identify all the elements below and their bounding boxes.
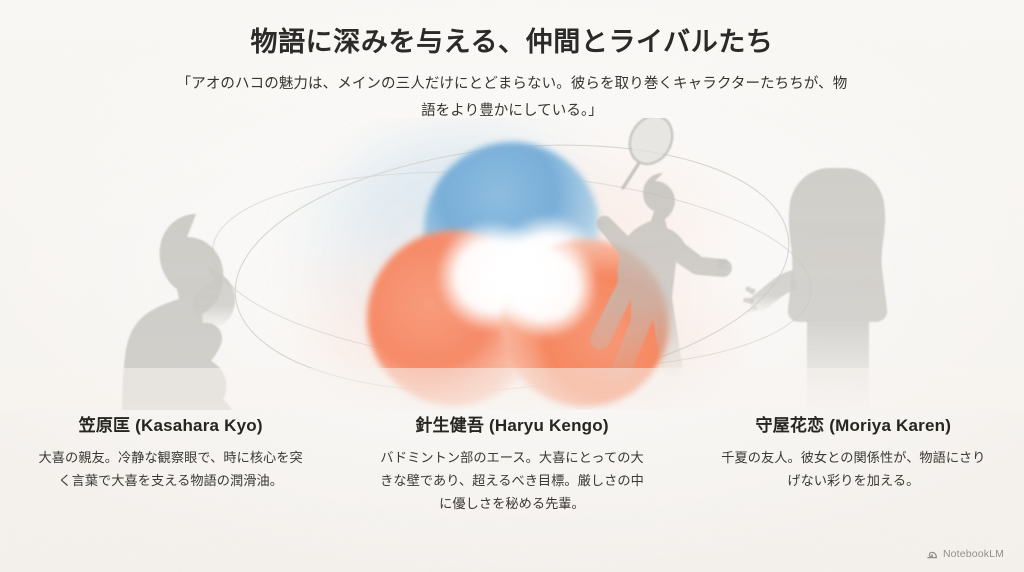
character-card: 守屋花恋 (Moriya Karen) 千夏の友人。彼女との関係性が、物語にさり… xyxy=(683,415,1024,535)
slide-header: 物語に深みを与える、仲間とライバルたち 「アオのハコの魅力は、メインの三人だけに… xyxy=(0,0,1024,125)
notebooklm-spiral-icon xyxy=(926,548,938,560)
character-description: バドミントン部のエース。大喜にとっての大きな壁であり、超えるべき目標。厳しさの中… xyxy=(375,436,648,515)
character-name: 針生健吾 (Haryu Kengo) xyxy=(375,415,648,436)
character-name: 守屋花恋 (Moriya Karen) xyxy=(717,415,990,436)
slide-subtitle: 「アオのハコの魅力は、メインの三人だけにとどまらない。彼らを取り巻くキャラクター… xyxy=(172,58,852,125)
character-card: 針生健吾 (Haryu Kengo) バドミントン部のエース。大喜にとっての大き… xyxy=(341,415,682,535)
watermark-label: NotebookLM xyxy=(943,548,1004,560)
character-description: 大喜の親友。冷静な観察眼で、時に核心を突く言葉で大喜を支える物語の潤滑油。 xyxy=(34,436,307,492)
central-illustration xyxy=(0,118,1024,410)
character-card: 笠原匡 (Kasahara Kyo) 大喜の親友。冷静な観察眼で、時に核心を突く… xyxy=(0,415,341,535)
character-description: 千夏の友人。彼女との関係性が、物語にさりげない彩りを加える。 xyxy=(717,436,990,492)
character-name: 笠原匡 (Kasahara Kyo) xyxy=(34,415,307,436)
notebooklm-watermark: NotebookLM xyxy=(926,548,1004,560)
character-card-list: 笠原匡 (Kasahara Kyo) 大喜の親友。冷静な観察眼で、時に核心を突く… xyxy=(0,415,1024,535)
slide-canvas: 物語に深みを与える、仲間とライバルたち 「アオのハコの魅力は、メインの三人だけに… xyxy=(0,0,1024,572)
page-title: 物語に深みを与える、仲間とライバルたち xyxy=(0,0,1024,58)
